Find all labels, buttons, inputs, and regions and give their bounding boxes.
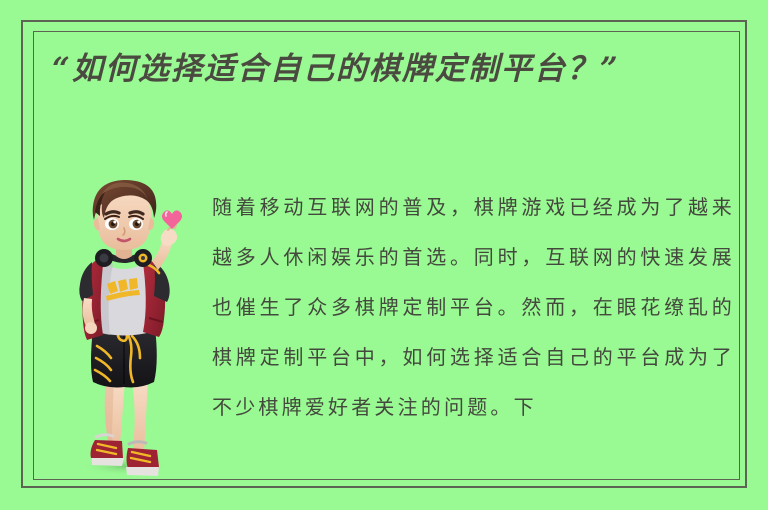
article-body: 随着移动互联网的普及，棋牌游戏已经成为了越来越多人休闲娱乐的首选。同时，互联网的…	[212, 182, 735, 482]
page-title: “如何选择适合自己的棋牌定制平台？”	[52, 46, 742, 93]
character-illustration	[62, 178, 188, 478]
jacket-sleeve-left	[79, 262, 93, 301]
poster-canvas: “如何选择适合自己的棋牌定制平台？”	[0, 0, 768, 510]
hand-finger-heart	[161, 229, 177, 246]
jacket-sleeve-right	[154, 262, 170, 302]
